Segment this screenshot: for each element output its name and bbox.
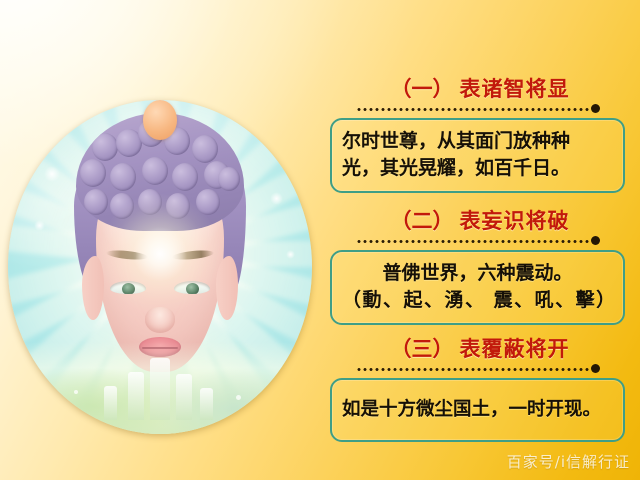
section-two-dotted-rule — [356, 236, 598, 246]
quote-line: 尔时世尊，从其面门放种种 — [342, 128, 613, 155]
quote-line: 普佛世界，六种震动。 — [342, 260, 613, 287]
section-one-quote-box: 尔时世尊，从其面门放种种 光，其光晃耀，如百千日。 — [330, 118, 625, 193]
quote-line: （動、起、湧、 震、吼、擊） — [342, 287, 613, 314]
sparkle — [34, 220, 45, 231]
sparkle — [286, 250, 295, 259]
buddha-artwork-circle — [8, 100, 312, 434]
sparkle — [44, 166, 60, 182]
slide-canvas: （一）表诸智将显 尔时世尊，从其面门放种种 光，其光晃耀，如百千日。 （二）表妄… — [0, 0, 640, 480]
section-three: （三）表覆蔽将开 如是十方微尘国土，一时开现。 — [330, 336, 630, 442]
watermark: 百家号/i信解行证 — [507, 451, 630, 472]
section-one: （一）表诸智将显 尔时世尊，从其面门放种种 光，其光晃耀，如百千日。 — [330, 76, 630, 193]
dot-endcap — [591, 364, 600, 373]
forehead-starburst — [100, 194, 220, 314]
section-three-quote-box: 如是十方微尘国土，一时开现。 — [330, 378, 625, 442]
section-one-heading: （一）表诸智将显 — [330, 76, 630, 102]
dot-endcap — [591, 104, 600, 113]
dotted-line — [356, 240, 594, 243]
section-two-heading: （二）表妄识将破 — [330, 208, 630, 234]
section-one-title: 表诸智将显 — [460, 76, 570, 101]
dot-endcap — [591, 236, 600, 245]
sparkle — [270, 192, 283, 205]
section-three-heading: （三）表覆蔽将开 — [330, 336, 630, 362]
section-two-number: （二） — [391, 208, 454, 233]
section-two-quote-box: 普佛世界，六种震动。 （動、起、湧、 震、吼、擊） — [330, 250, 625, 325]
section-two-title: 表妄识将破 — [460, 208, 570, 233]
dotted-line — [356, 108, 594, 111]
content-column: （一）表诸智将显 尔时世尊，从其面门放种种 光，其光晃耀，如百千日。 （二）表妄… — [330, 0, 640, 480]
section-three-number: （三） — [391, 336, 454, 361]
ushnisha-topknot — [143, 100, 177, 140]
quote-line: 光，其光晃耀，如百千日。 — [342, 155, 613, 182]
quote-line: 如是十方微尘国土，一时开现。 — [342, 396, 613, 423]
section-one-dotted-rule — [356, 104, 598, 114]
section-one-number: （一） — [391, 76, 454, 101]
section-two: （二）表妄识将破 普佛世界，六种震动。 （動、起、湧、 震、吼、擊） — [330, 208, 630, 325]
dotted-line — [356, 368, 594, 371]
pure-land-landscape — [8, 342, 312, 434]
section-three-title: 表覆蔽将开 — [460, 336, 570, 361]
section-three-dotted-rule — [356, 364, 598, 374]
